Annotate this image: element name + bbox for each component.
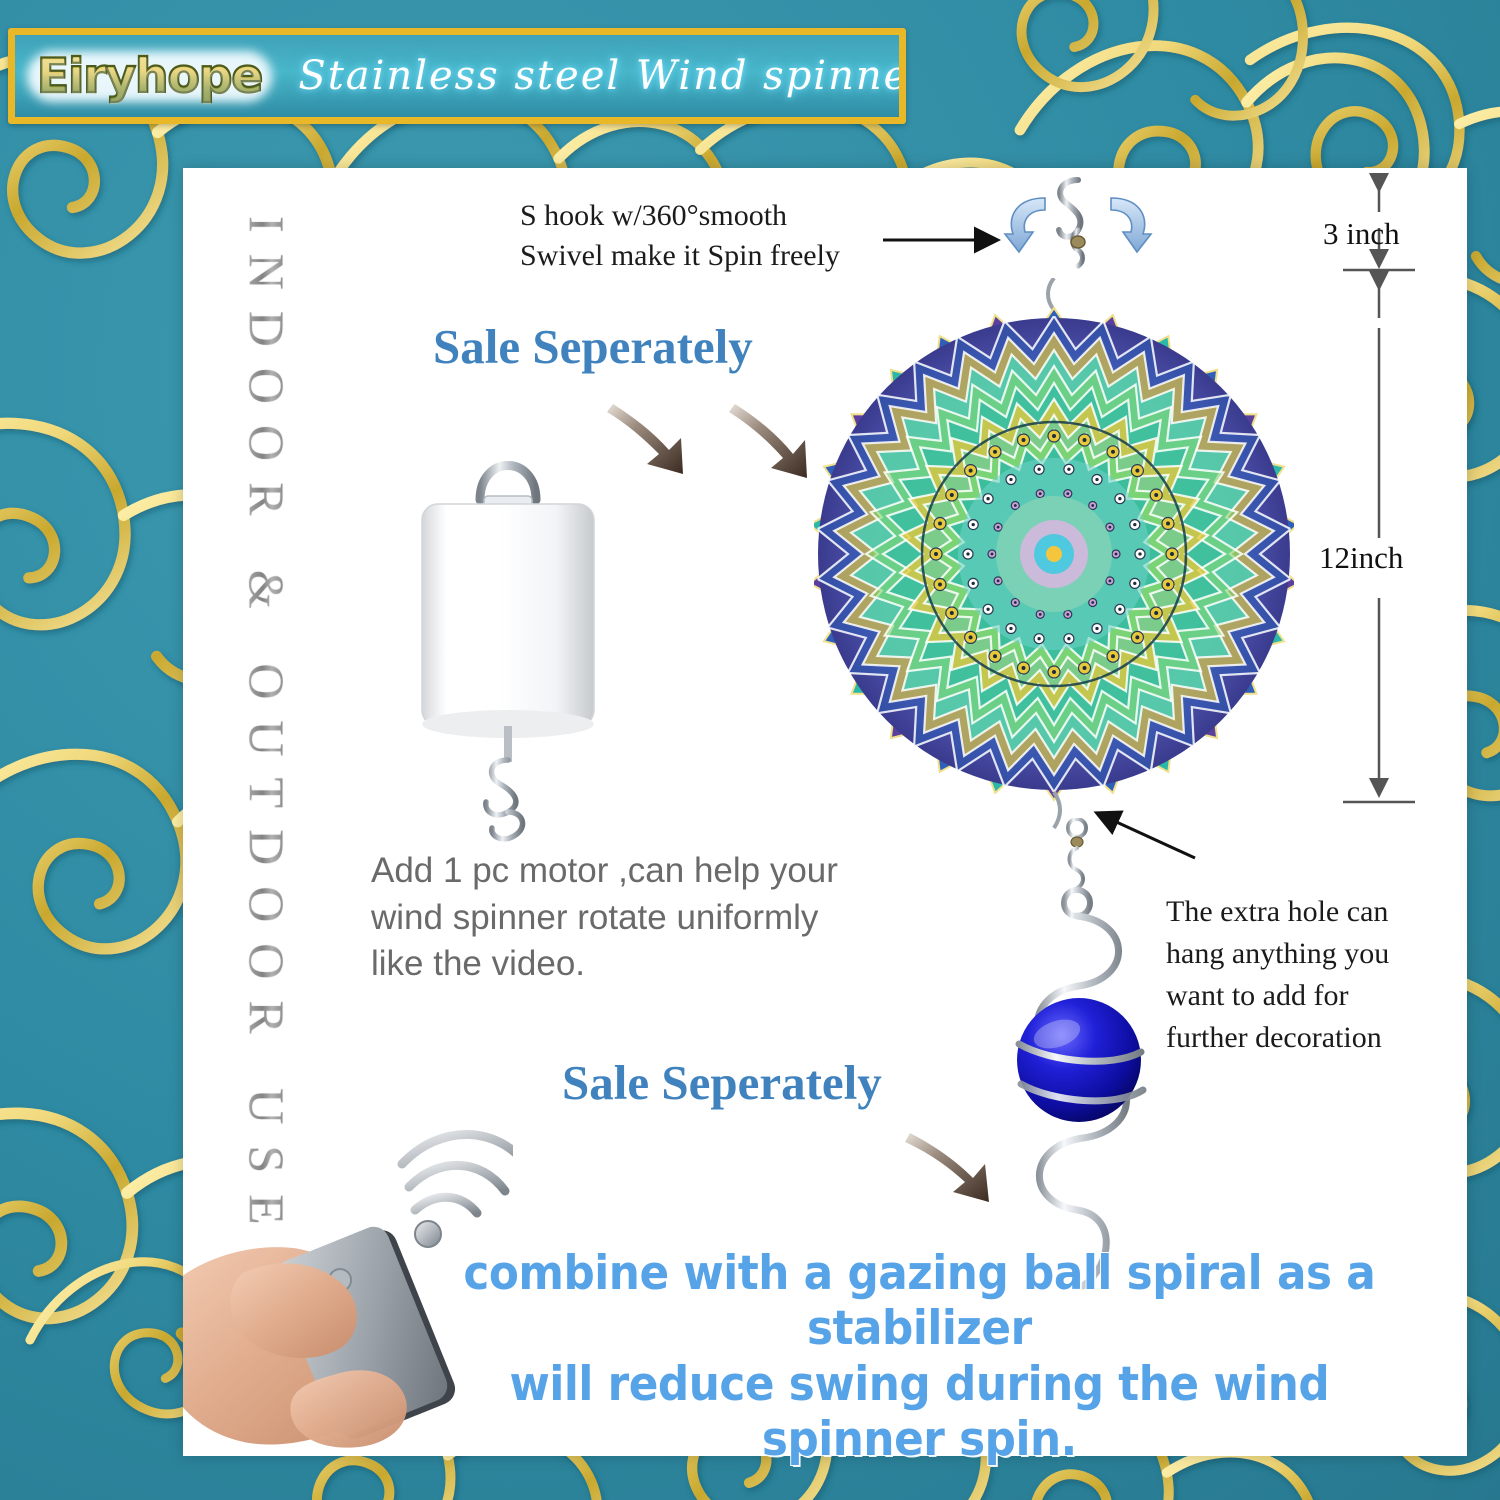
bottom-headline: combine with a gazing ball spiral as a s… xyxy=(459,1246,1380,1468)
dimension-label-body: 12inch xyxy=(1319,540,1403,576)
banner-tagline: Stainless steel Wind spinner xyxy=(298,53,906,99)
sale-separately-bottom: Sale Seperately xyxy=(562,1054,882,1111)
arrow-to-motor xyxy=(607,404,683,474)
brand-logo: Eiryhope xyxy=(27,47,272,106)
wireless-signal-icon xyxy=(402,1134,513,1213)
hanging-motor-illustration xyxy=(398,438,618,858)
arrow-to-spinner xyxy=(729,404,807,478)
brand-banner: Eiryhope Stainless steel Wind spinner xyxy=(8,28,906,124)
extra-hole-note: The extra hole can hang anything you wan… xyxy=(1166,891,1389,1059)
dimension-12inch xyxy=(1343,276,1415,802)
rotate-right-arrow xyxy=(1111,198,1151,252)
s-hook-swivel-illustration xyxy=(983,172,1173,292)
arrow-to-spiral xyxy=(905,1133,989,1202)
brand-logo-text: Eiryhope xyxy=(37,49,262,104)
main-content-panel: INDOOR & OUTDOOR USE xyxy=(183,168,1467,1456)
sale-separately-top: Sale Seperately xyxy=(433,318,753,375)
motor-description: Add 1 pc motor ,can help your wind spinn… xyxy=(371,848,931,988)
vertical-claim: INDOOR & OUTDOOR USE xyxy=(229,216,305,1186)
mandala-wind-spinner xyxy=(814,278,1294,830)
rotate-left-arrow xyxy=(1005,198,1045,252)
gazing-ball-spiral-illustration xyxy=(991,818,1171,1298)
dimension-label-top: 3 inch xyxy=(1323,216,1400,252)
hook-note: S hook w/360°smooth Swivel make it Spin … xyxy=(520,196,840,275)
vertical-claim-text: INDOOR & OUTDOOR USE xyxy=(238,216,296,1246)
